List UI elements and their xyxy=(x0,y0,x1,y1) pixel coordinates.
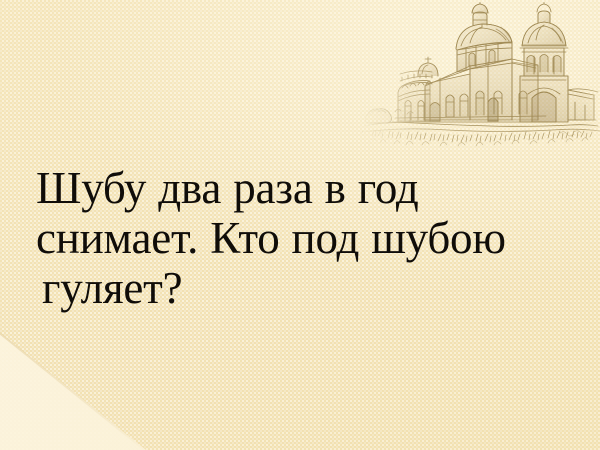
quote-line-2: снимает. Кто под шубою xyxy=(36,213,590,263)
quote-card: Шубу два раза в год снимает. Кто под шуб… xyxy=(0,0,600,450)
quote-line-3: гуляет? xyxy=(36,263,590,313)
quote-text: Шубу два раза в год снимает. Кто под шуб… xyxy=(0,163,600,313)
corner-light-wedge-edge xyxy=(0,329,152,450)
orthodox-church-sketch-icon xyxy=(362,2,600,152)
quote-line-1: Шубу два раза в год xyxy=(36,163,590,213)
